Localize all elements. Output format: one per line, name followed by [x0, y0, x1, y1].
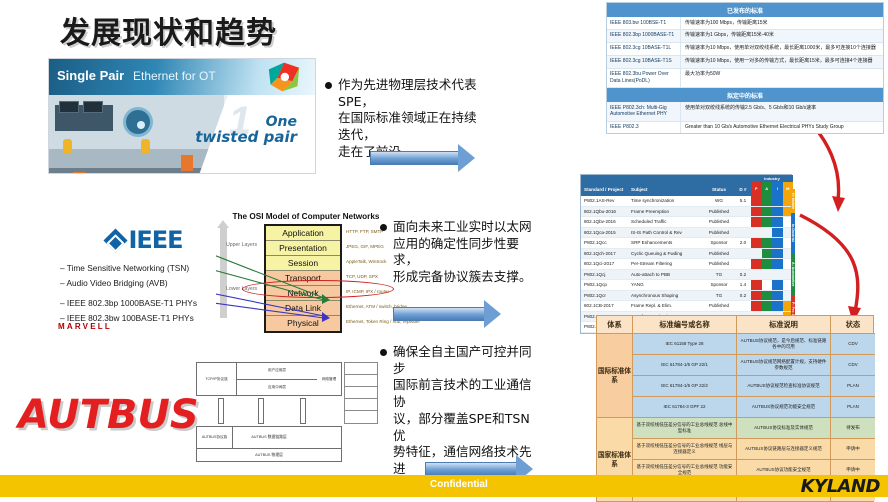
osi-layer: Physical: [266, 316, 340, 331]
cell-status: Published: [703, 259, 735, 269]
cell-standard-desc: AUTBUS协议规范检查标准协议规范: [737, 376, 831, 396]
osi-layer: Session: [266, 256, 340, 271]
slide-footer: Confidential KYLAND: [0, 475, 888, 497]
cell-dnum: 1.4: [735, 280, 751, 290]
table-row: IEEE P802.3 Greater than 10 Gb/s Automot…: [607, 122, 883, 134]
side-label-industrial: In-Dustrial: [791, 213, 795, 253]
side-cell: [345, 399, 377, 411]
cell-standard-name: IEC 61784-3 GPF 22: [633, 397, 737, 417]
cell-subject: Frame Preemption: [629, 207, 703, 217]
table-row: 802.1Qbv-2016Scheduled TrafficPublished: [581, 217, 791, 228]
cell-industry: [751, 259, 793, 269]
cell-standard-name: IEC 61784-1/5 GP 22/1: [633, 355, 737, 375]
industry-swatch-I: [772, 270, 783, 280]
cell-status: TG: [703, 291, 735, 301]
industry-swatch-I: [772, 207, 783, 217]
cell-description: 传输速率为10 Mbps，使用一对多的传输方式，最长距离15米，最多可连接4个连…: [681, 56, 883, 68]
side-label-automotive: A: Automotive: [791, 253, 795, 295]
protocol-side-table: [344, 362, 378, 424]
industry-swatch-I: [772, 228, 783, 238]
table-row: P802.1QcjAuto-attach to PBBTG0.2: [581, 270, 791, 281]
cell-status: TG: [703, 270, 735, 280]
col-system: 体系: [597, 316, 633, 333]
cell-industry: [751, 280, 793, 290]
list-item: – Audio Video Bridging (AVB): [60, 276, 230, 291]
cell-status: PLAN: [831, 397, 875, 417]
cell-standard: 802.1CB-2017: [581, 301, 629, 311]
industry-swatch-I: [772, 259, 783, 269]
table-industry-header: Industry: [581, 175, 791, 182]
cell-standard-name: 基于双绞线低压差分信号的工业总线规范 总线中型标准: [633, 418, 737, 438]
ieee-logo: IEEE: [60, 226, 230, 254]
cell-standard: P802.1Qcp: [581, 280, 629, 290]
bullet-tsn: 面向未来工业实时以太网 应用的确定性同步性要求， 形成完备协议簇去支撑。: [380, 219, 536, 286]
cell-dnum: 5.1: [735, 196, 751, 206]
table-row: 802.1Qbu-2016Frame PreemptionPublished: [581, 207, 791, 218]
cell-status: Published: [703, 217, 735, 227]
spe-tagline: One twisted pair: [195, 115, 297, 145]
cell-standard-name: 基于双绞线低压差分信号的工业总线规范 线层与连接器定义: [633, 439, 737, 459]
blue-arrow-2-icon: [393, 300, 501, 328]
spe-title-bold: Single Pair: [57, 68, 124, 83]
industry-swatch-P: [751, 217, 762, 227]
bullet-dot-icon: [380, 224, 387, 231]
autbus-protocol-diagram: TCP/IP协议族 用户应用层 应用中间层 网络管理 AUTBUS协议族 AUT…: [196, 362, 342, 468]
industry-swatch-A: [762, 228, 773, 238]
col-standard-desc: 标准说明: [737, 316, 831, 333]
cell-status: 待发布: [831, 418, 875, 438]
osi-datalink-highlight: [242, 280, 394, 298]
osi-layer: Application: [266, 226, 340, 241]
protocol-row: AUTBUS协议族 AUTBUS 数据链路层: [197, 427, 341, 449]
cell-subject: Auto-attach to PBB: [629, 270, 703, 280]
cell-industry: [751, 291, 793, 301]
cell-industry: [751, 228, 793, 238]
side-cell: [345, 363, 377, 375]
cell-industry: [751, 301, 793, 311]
protocol-cell: 应用中间层: [237, 380, 317, 396]
table-row: 802.1Qch-2017Cyclic Queuing & FwdingPubl…: [581, 249, 791, 260]
bullet-line: 形成完备协议簇去支撑。: [393, 269, 536, 286]
cell-standard: 802.1Qbu-2016: [581, 207, 629, 217]
industry-swatch-P: [751, 228, 762, 238]
industry-swatch-I: [772, 291, 783, 301]
industry-swatch-P: [751, 238, 762, 248]
cell-dnum: [735, 301, 751, 311]
autbus-logo: AUTBUS: [18, 392, 199, 438]
industry-swatch-I: [772, 196, 783, 206]
tsn-side-category-bars: H: Mobile In-Dustrial A: Automotive P: P…: [791, 189, 807, 327]
table-row: P802.1AS-RevTime synchronizationWG5.1: [581, 196, 791, 207]
industry-swatch-A: [762, 249, 773, 259]
protocol-row: AUTBUS 物理层: [197, 449, 341, 461]
protocol-arrow-row: [196, 396, 342, 426]
osi-layer: Presentation: [266, 241, 340, 256]
double-arrow-icon: [300, 398, 306, 424]
cell-status: Published: [703, 249, 735, 259]
protocol-bottom-block: AUTBUS协议族 AUTBUS 数据链路层 AUTBUS 物理层: [196, 426, 342, 462]
cell-standard: IEEE P802.3ch: Multi-Gig Automotive Ethe…: [607, 102, 681, 121]
table-row: P802.1QccSRP EnhancementsSponsor2.0: [581, 238, 791, 249]
blue-arrow-1-icon: [370, 144, 475, 172]
cell-standard-desc: AUTBUS协议规范网络配置计规，支持硬件参数规范: [737, 355, 831, 375]
ieee-standard-list: – Time Sensitive Networking (TSN) – Audi…: [60, 261, 230, 325]
cell-standard: 802.1Qch-2017: [581, 249, 629, 259]
spe-banner-image: Single Pair Ethernet for OT 1 One twiste…: [48, 58, 316, 174]
table-row: IEC 61784-1/5 GP 22/1AUTBUS协议规范网络配置计规，支持…: [633, 354, 875, 375]
osi-layer-stack: Application Presentation Session Transpo…: [264, 224, 342, 333]
industry-swatch-A: [762, 301, 773, 311]
ieee-block: IEEE – Time Sensitive Networking (TSN) –…: [60, 226, 230, 325]
cell-standard: P802.1Qcr: [581, 291, 629, 301]
osi-diagram-title: The OSI Model of Computer Networks: [216, 212, 396, 221]
industry-swatch-I: [772, 217, 783, 227]
cell-dnum: 0.2: [735, 291, 751, 301]
cell-status: CDV: [831, 355, 875, 375]
cell-description: Greater than 10 Gb/s Automotive Ethernet…: [681, 122, 883, 134]
protocol-layer: AUTBUS 数据链路层: [251, 435, 286, 440]
cell-standard: P802.1Qcj: [581, 270, 629, 280]
ieee-diamond-icon: [104, 228, 128, 252]
bullet-text: 面向未来工业实时以太网 应用的确定性同步性要求， 形成完备协议簇去支撑。: [393, 219, 536, 286]
protocol-cell: 网络管理: [317, 363, 341, 395]
cell-subject: Cyclic Queuing & Fwding: [629, 249, 703, 259]
table-row: 基于双绞线低压差分信号的工业总线规范 线层与连接器定义AUTBUS协议链路层与连…: [633, 438, 875, 459]
cell-industry: [751, 207, 793, 217]
cell-status: Published: [703, 301, 735, 311]
double-arrow-icon: [218, 398, 224, 424]
ind-i: I: [772, 182, 783, 196]
industry-swatch-A: [762, 217, 773, 227]
side-cell: [345, 411, 377, 423]
cell-standard-desc: AUTBUS协议规范功能安全规范: [737, 397, 831, 417]
table-header-developing: 拟定中的标准: [607, 88, 883, 102]
table-row: 基于双绞线低压差分信号的工业总线规范 总线中型标准AUTBUS协议标准及实体规范…: [633, 417, 875, 438]
bullet-line: 国际前言技术的工业通信协: [393, 377, 532, 410]
cell-standard: P802.1AS-Rev: [581, 196, 629, 206]
cell-standard-desc: AUTBUS协议规范，是今后规范、标准链路各中的可用: [737, 334, 831, 354]
cell-dnum: [735, 207, 751, 217]
spe-tagline-line2: twisted pair: [195, 130, 297, 146]
cell-subject: Time synchronization: [629, 196, 703, 206]
cell-status: CDV: [831, 334, 875, 354]
cell-industry: [751, 249, 793, 259]
table-row: IEC 61784-3 GPF 22AUTBUS协议规范功能安全规范PLAN: [633, 396, 875, 417]
table-header-row: Standard / Project Subject Status D # P …: [581, 182, 791, 196]
protocol-top-block: TCP/IP协议族 用户应用层 应用中间层 网络管理: [196, 362, 342, 396]
osi-up-arrow-icon: [220, 226, 227, 318]
table-row: IEEE 802.3cg 10BASE-T1L 传输速率为10 Mbps，使用单…: [607, 43, 883, 56]
cell-status: PLAN: [831, 376, 875, 396]
table-header-published: 已发布的标准: [607, 3, 883, 17]
cell-standard: IEEE 802.3bp 1000BASE-T1: [607, 30, 681, 42]
cell-dnum: [735, 259, 751, 269]
list-item: – Time Sensitive Networking (TSN): [60, 261, 230, 276]
group-label: 国际标准体系: [597, 333, 633, 417]
table-row: P802.1QcpYANGSponsor1.4: [581, 280, 791, 291]
cell-standard-name: IEC 61784-1/5 GP 22/2: [633, 376, 737, 396]
cell-dnum: [735, 249, 751, 259]
published-standards-table: 已发布的标准 IEEE 803.bw 100BSE-T1 传输速率为100 Mb…: [606, 2, 884, 134]
table-row: IEC 61158 Type 28AUTBUS协议规范，是今后规范、标准链路各中…: [633, 333, 875, 354]
side-cell: [345, 375, 377, 387]
industry-swatch-I: [772, 301, 783, 311]
side-label-mobile: H: Mobile: [791, 189, 795, 213]
cell-description: 最大功率为50W: [681, 69, 883, 88]
ind-p: P: [751, 182, 762, 196]
table-row: IEEE 802.3cg 10BASE-T1S 传输速率为10 Mbps，使用一…: [607, 56, 883, 69]
industry-swatch-P: [751, 291, 762, 301]
industry-swatch-A: [762, 270, 773, 280]
industry-swatch-A: [762, 259, 773, 269]
cell-standard: IEEE 802.3bu Power Over Data Lines(PoDL): [607, 69, 681, 88]
cell-standard-desc: AUTBUS协议标准及实体规范: [737, 418, 831, 438]
side-cell: [345, 387, 377, 399]
cell-dnum: 0.2: [735, 270, 751, 280]
bullet-line: 在国际标准领域正在持续迭代，: [338, 110, 485, 143]
cell-subject: SRP Enhancements: [629, 238, 703, 248]
industry-swatch-A: [762, 291, 773, 301]
protocol-tag: AUTBUS协议族: [197, 427, 233, 448]
cell-dnum: [735, 217, 751, 227]
col-subject: Subject: [629, 182, 703, 196]
industry-swatch-P: [751, 207, 762, 217]
cell-subject: Frame Repl. & Elim.: [629, 301, 703, 311]
cell-status: Published: [703, 207, 735, 217]
cell-subject: Scheduled Traffic: [629, 217, 703, 227]
osi-upper-layers-label: Upper Layers: [226, 242, 257, 248]
industry-label: Industry: [751, 175, 793, 182]
ind-a: A: [762, 182, 773, 196]
industry-swatch-P: [751, 259, 762, 269]
table-row: P802.1QcrAsynchronous ShapingTG0.2: [581, 291, 791, 302]
double-arrow-icon: [258, 398, 264, 424]
cell-standard: 802.1Qci-2017: [581, 259, 629, 269]
kyland-logo: KYLAND: [801, 476, 880, 497]
cell-industry: [751, 217, 793, 227]
spe-banner-illustration: 1 One twisted pair: [49, 95, 315, 174]
page-title: 发展现状和趋势: [60, 8, 277, 52]
cell-status: 申请中: [831, 439, 875, 459]
group-international: 国际标准体系 IEC 61158 Type 28AUTBUS协议规范，是今后规范…: [597, 333, 873, 417]
industry-swatch-P: [751, 301, 762, 311]
bullet-dot-icon: [325, 82, 332, 89]
bullet-line: 面向未来工业实时以太网: [393, 219, 536, 236]
cell-dnum: 2.0: [735, 238, 751, 248]
cell-standard: IEEE 803.bw 100BSE-T1: [607, 17, 681, 29]
industry-swatch-P: [751, 196, 762, 206]
industry-swatch-P: [751, 249, 762, 259]
cell-industry: [751, 196, 793, 206]
confidential-label: Confidential: [430, 479, 488, 490]
tsn-standards-table: Industry Standard / Project Subject Stat…: [580, 174, 792, 334]
table-row: IEEE 803.bw 100BSE-T1 传输速率为100 Mbps，传输距离…: [607, 17, 883, 30]
osi-layer: Data Link: [266, 301, 340, 316]
table-row: 802.1Qci-2017Per-Stream FilteringPublish…: [581, 259, 791, 270]
cell-description: 传输速率为10 Mbps，使用单对双绞线系统，最长距离1000米，最多可连接10…: [681, 43, 883, 55]
cell-subject: YANG: [629, 280, 703, 290]
bullet-line: 议，部分覆盖SPE和TSN优: [393, 411, 532, 444]
industry-swatch-A: [762, 196, 773, 206]
cell-standard: IEEE 802.3cg 10BASE-T1S: [607, 56, 681, 68]
bullet-line: 确保全自主国产可控并同步: [393, 344, 532, 377]
industry-swatch-A: [762, 238, 773, 248]
industry-swatch-I: [772, 238, 783, 248]
cell-status: Published: [703, 228, 735, 238]
cell-standard: 802.1Qbv-2016: [581, 217, 629, 227]
protocol-layer: AUTBUS 物理层: [255, 453, 283, 458]
bullet-line: 应用的确定性同步性要求，: [393, 236, 536, 269]
cell-status: Sponsor: [703, 280, 735, 290]
table-row: IEC 61784-1/5 GP 22/2AUTBUS协议规范检查标准协议规范P…: [633, 375, 875, 396]
cell-industry: [751, 238, 793, 248]
col-status: 状态: [831, 316, 875, 333]
cell-standard: P802.1Qcc: [581, 238, 629, 248]
osi-protocols: Ethernet, Token Ring / hub, repeater: [346, 314, 396, 329]
osi-model-diagram: The OSI Model of Computer Networks Upper…: [216, 212, 396, 324]
cell-subject: IS-IS Path Control & Rev: [629, 228, 703, 238]
cell-status: WG: [703, 196, 735, 206]
col-dnum: D #: [735, 182, 751, 196]
protocol-cell: 用户应用层: [237, 363, 317, 380]
group-rows: IEC 61158 Type 28AUTBUS协议规范，是今后规范、标准链路各中…: [633, 333, 875, 417]
cell-description: 传输速率为1 Gbps，传输距离15米-40米: [681, 30, 883, 42]
table-row: 802.1Qca-2015IS-IS Path Control & RevPub…: [581, 228, 791, 239]
cell-standard: IEEE P802.3: [607, 122, 681, 134]
bullet-dot-icon: [380, 349, 387, 356]
table-row: IEEE P802.3ch: Multi-Gig Automotive Ethe…: [607, 102, 883, 122]
table-row: 802.1CB-2017Frame Repl. & Elim.Published: [581, 301, 791, 312]
cell-industry: [751, 270, 793, 280]
table-header-row: 体系 标准编号或名称 标准说明 状态: [597, 316, 873, 333]
spe-banner-header: Single Pair Ethernet for OT: [49, 59, 315, 95]
ieee-logo-text: IEEE: [128, 226, 182, 254]
cell-subject: Per-Stream Filtering: [629, 259, 703, 269]
col-standard: Standard / Project: [581, 182, 629, 196]
industry-swatch-I: [772, 249, 783, 259]
cell-status: Sponsor: [703, 238, 735, 248]
table-row: IEEE 802.3bu Power Over Data Lines(PoDL)…: [607, 69, 883, 89]
industry-swatch-I: [772, 280, 783, 290]
industry-swatch-P: [751, 280, 762, 290]
cell-standard: 802.1Qca-2015: [581, 228, 629, 238]
bullet-line: 作为先进物理层技术代表SPE，: [338, 77, 485, 110]
marvell-logo-text: MARVELL: [58, 322, 112, 331]
col-industry: P A I M: [751, 182, 793, 196]
industry-swatch-A: [762, 207, 773, 217]
cell-subject: Asynchronous Shaping: [629, 291, 703, 301]
autbus-standards-table: 体系 标准编号或名称 标准说明 状态 国际标准体系 IEC 61158 Type…: [596, 315, 874, 502]
cell-standard-desc: AUTBUS协议链路层与连接器定义规范: [737, 439, 831, 459]
spe-title-rest: Ethernet for OT: [133, 69, 216, 83]
cell-description: 传输速率为100 Mbps，传输距离15米: [681, 17, 883, 29]
col-standard-name: 标准编号或名称: [633, 316, 737, 333]
cell-description: 使用单对双绞线系统的传输2.5 Gb/s、5 Gb/s和10 Gb/s速率: [681, 102, 883, 121]
cell-standard: IEEE 802.3cg 10BASE-T1L: [607, 43, 681, 55]
list-item: – IEEE 802.3bp 1000BASE-T1 PHYs: [60, 296, 230, 311]
osi-protocols: Ethernet, ATM / switch, bridge: [346, 299, 396, 314]
cell-standard-name: IEC 61158 Type 28: [633, 334, 737, 354]
tsn-table-body: P802.1AS-RevTime synchronizationWG5.1802…: [581, 196, 791, 333]
table-row: IEEE 802.3bp 1000BASE-T1 传输速率为1 Gbps，传输距…: [607, 30, 883, 43]
col-status: Status: [703, 182, 735, 196]
industry-swatch-A: [762, 280, 773, 290]
industry-swatch-P: [751, 270, 762, 280]
spe-pinwheel-icon: [267, 61, 301, 93]
cell-dnum: [735, 228, 751, 238]
protocol-cell: TCP/IP协议族: [197, 363, 237, 395]
